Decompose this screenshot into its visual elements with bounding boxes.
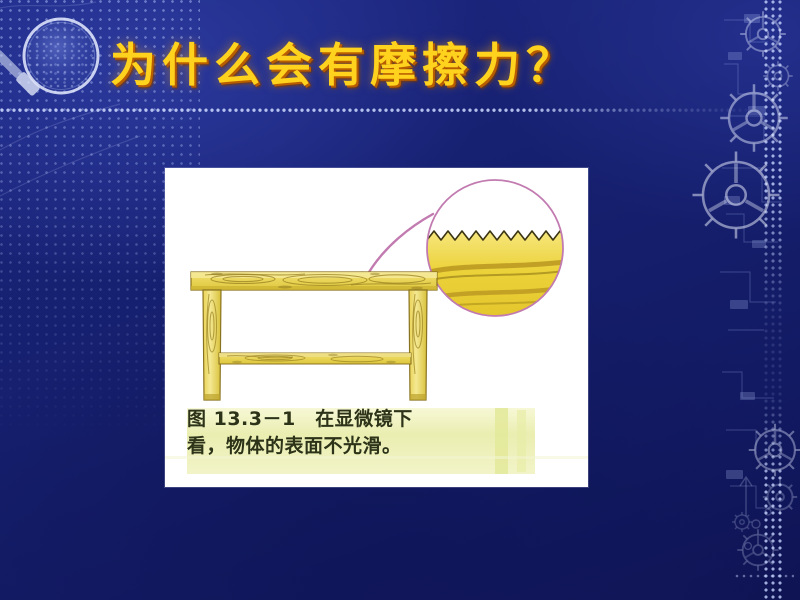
caption-line-1: 图 13.3－1 在显微镜下 xyxy=(187,406,567,433)
presentation-slide: 为什么会有摩擦力？ xyxy=(0,0,800,600)
figure-panel: 图 13.3－1 在显微镜下 看，物体的表面不光滑。 xyxy=(165,168,588,487)
page-title: 为什么会有摩擦力？ xyxy=(110,42,578,88)
right-dotted-strip xyxy=(764,0,782,600)
figure-caption: 图 13.3－1 在显微镜下 看，物体的表面不光滑。 xyxy=(187,406,567,460)
dotted-divider xyxy=(0,108,800,113)
caption-line-2: 看，物体的表面不光滑。 xyxy=(187,433,567,460)
